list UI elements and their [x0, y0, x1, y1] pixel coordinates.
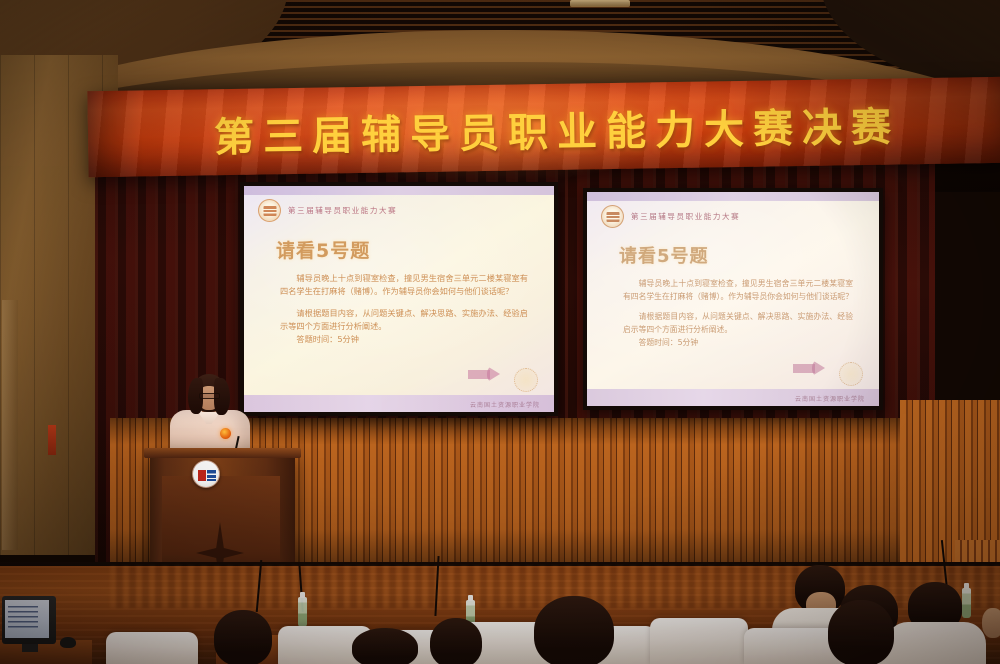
audience-arm — [982, 608, 1000, 638]
slide-paragraph-3: 答题时间：5分钟 — [623, 337, 853, 350]
slide-logo-text: 第三届辅导员职业能力大赛 — [631, 211, 740, 222]
chair-cover — [650, 618, 748, 664]
competition-logo-icon — [601, 205, 624, 228]
water-bottle-icon — [962, 588, 971, 618]
chair-cover — [744, 628, 840, 664]
projection-screen-right: 第三届辅导员职业能力大赛 请看5号题 辅导员晚上十点到寝室检查，撞见男生宿舍三单… — [583, 188, 883, 410]
left-wall-door-edge — [2, 300, 18, 550]
slide-paragraph-2: 请根据题目内容，从问题关键点、解决思路、实施办法、经验启示等四个方面进行分析阐述… — [623, 311, 853, 336]
slide-body: 辅导员晚上十点到寝室检查，撞见男生宿舍三单元二楼某寝室有四名学生在打麻将（赌博）… — [623, 278, 853, 357]
slide-top-bar — [587, 192, 879, 201]
slide-logo-text: 第三届辅导员职业能力大赛 — [288, 205, 397, 216]
slide-paragraph-1: 辅导员晚上十点到寝室检查，撞见男生宿舍三单元二楼某寝室有四名学生在打麻将（赌博）… — [280, 272, 528, 299]
slide-paragraph-2: 请根据题目内容，从问题关键点、解决思路、实施办法、经验启示等四个方面进行分析阐述… — [280, 307, 528, 334]
water-bottle-icon — [298, 597, 307, 627]
audience-head-front — [828, 600, 894, 664]
podium-top-surface — [144, 448, 301, 458]
audience-head-front — [214, 610, 272, 664]
monitor-text-lines — [8, 606, 38, 628]
slide-header: 第三届辅导员职业能力大赛 — [601, 205, 740, 228]
school-crest-icon — [192, 460, 220, 488]
flower-badge-icon — [220, 428, 231, 439]
computer-mouse-icon — [60, 637, 76, 648]
arrow-right-icon — [793, 360, 827, 376]
audience-shirt — [886, 622, 986, 664]
auditorium-scene: 第三届辅导员职业能力大赛决赛 第三届辅导员职业能力大赛 请看5号题 辅导员晚上十… — [0, 0, 1000, 664]
slide-footer-text: 云南国土资源职业学院 — [795, 394, 865, 403]
slide-footer-text: 云南国土资源职业学院 — [470, 400, 540, 409]
slide-title: 请看5号题 — [619, 242, 709, 268]
monitor-stand — [22, 644, 38, 652]
slide-title: 请看5号题 — [276, 236, 370, 263]
arrow-right-icon — [468, 366, 502, 382]
ceiling-light — [570, 0, 630, 7]
glasses-icon — [199, 393, 220, 399]
slide-paragraph-3: 答题时间：5分钟 — [280, 333, 528, 346]
audience-head-front — [534, 596, 614, 664]
competition-logo-icon — [258, 199, 281, 222]
slide-seal-icon — [514, 368, 538, 392]
slide-body: 辅导员晚上十点到寝室检查，撞见男生宿舍三单元二楼某寝室有四名学生在打麻将（赌博）… — [280, 272, 528, 354]
slide-top-bar — [244, 186, 554, 195]
slide-header: 第三届辅导员职业能力大赛 — [258, 199, 397, 222]
left-wall-red-marker — [48, 425, 56, 455]
competition-banner: 第三届辅导员职业能力大赛决赛 — [87, 77, 1000, 177]
slide-right: 第三届辅导员职业能力大赛 请看5号题 辅导员晚上十点到寝室检查，撞见男生宿舍三单… — [587, 192, 879, 406]
audience-head-front — [352, 628, 418, 664]
slide-paragraph-1: 辅导员晚上十点到寝室检查，撞见男生宿舍三单元二楼某寝室有四名学生在打麻将（赌博）… — [623, 278, 853, 303]
audience-head-front — [430, 618, 482, 664]
chair-cover — [106, 632, 198, 664]
slide-seal-icon — [839, 362, 863, 386]
slide-bottom-bar: 云南国土资源职业学院 — [587, 389, 879, 406]
